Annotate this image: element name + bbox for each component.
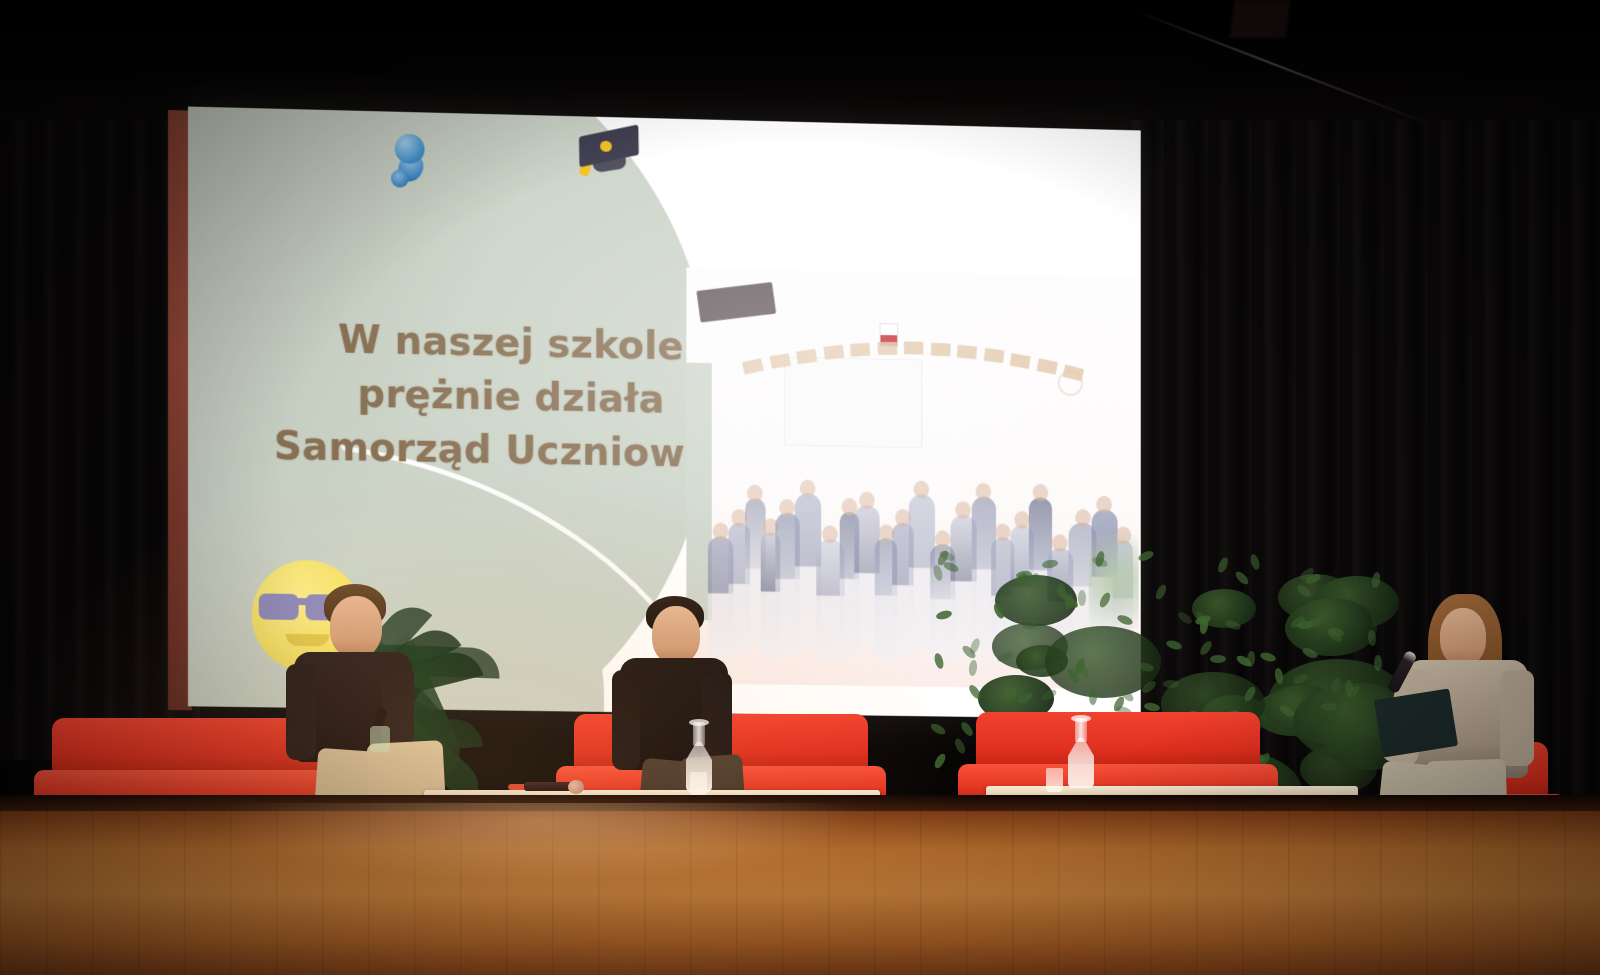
water-bottle bbox=[370, 726, 390, 752]
ficus-leaf bbox=[968, 637, 981, 655]
ficus-leaf bbox=[1246, 651, 1255, 668]
microphone-on-table bbox=[508, 782, 586, 793]
ficus-leaf bbox=[1198, 639, 1214, 657]
ficus-leaf bbox=[1249, 553, 1261, 571]
stage-scene: W naszej szkole prężnie działa Samorząd … bbox=[0, 0, 1600, 975]
stage-floor bbox=[0, 795, 1600, 975]
ficus-leaf bbox=[933, 652, 945, 670]
ficus-leaf bbox=[968, 660, 978, 677]
floor-reflection bbox=[180, 803, 1080, 973]
ficus-leaf bbox=[1210, 655, 1226, 663]
ficus-leaf bbox=[929, 722, 947, 737]
ficus-leaf bbox=[1143, 701, 1160, 712]
clipboard bbox=[1374, 688, 1458, 757]
ficus-leaf bbox=[933, 752, 948, 770]
ceiling-fixture bbox=[1229, 0, 1290, 38]
graduation-cap-icon bbox=[575, 124, 646, 183]
ficus-leaf bbox=[1166, 639, 1184, 651]
carafe-right bbox=[1068, 718, 1094, 788]
glass-right bbox=[1046, 768, 1063, 792]
ficus-leaf bbox=[1116, 613, 1134, 626]
ficus-leaf bbox=[1041, 559, 1058, 570]
ficus-leaf bbox=[1154, 583, 1168, 601]
ficus-leaf bbox=[1137, 549, 1155, 563]
ficus-leaf bbox=[1216, 557, 1230, 575]
ficus-leaf bbox=[1098, 591, 1113, 609]
ficus-leaf bbox=[1259, 651, 1277, 663]
ficus-leaf bbox=[1176, 610, 1194, 626]
ficus-leaf bbox=[1089, 689, 1097, 705]
photo-bunting bbox=[743, 334, 1083, 394]
ficus-leaf bbox=[1162, 680, 1178, 688]
ficus-leaf bbox=[1233, 570, 1250, 587]
ficus-leaf bbox=[935, 610, 952, 622]
push-pin-icon bbox=[379, 133, 442, 198]
glass-center bbox=[690, 772, 707, 796]
ficus-leaf bbox=[1078, 590, 1086, 606]
ficus-leaf bbox=[932, 564, 944, 582]
